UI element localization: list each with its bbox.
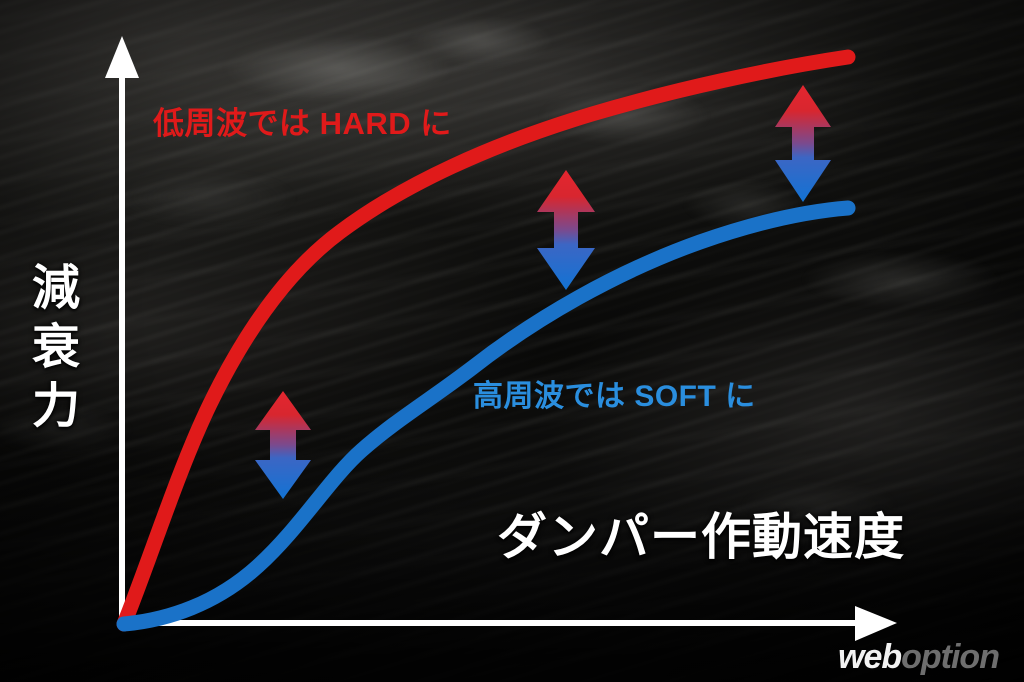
- x-axis-label: ダンパー作動速度: [497, 512, 905, 562]
- watermark-option-text: option: [901, 638, 999, 676]
- gap-arrow-group: [0, 0, 1024, 682]
- gap-arrow-right: [775, 85, 831, 202]
- annotation-hard-label: 低周波では HARD に: [153, 108, 452, 139]
- gap-arrow-middle: [537, 170, 595, 290]
- y-axis-label: 減衰力: [26, 262, 74, 439]
- annotation-soft-label: 高周波では SOFT に: [473, 382, 756, 412]
- watermark-web-option: weboption: [838, 640, 999, 674]
- gap-arrow-left: [255, 391, 311, 499]
- diagram-canvas: 低周波では HARD に 高周波では SOFT に ダンパー作動速度 減衰力 w…: [0, 0, 1024, 682]
- watermark-web-text: web: [838, 638, 901, 676]
